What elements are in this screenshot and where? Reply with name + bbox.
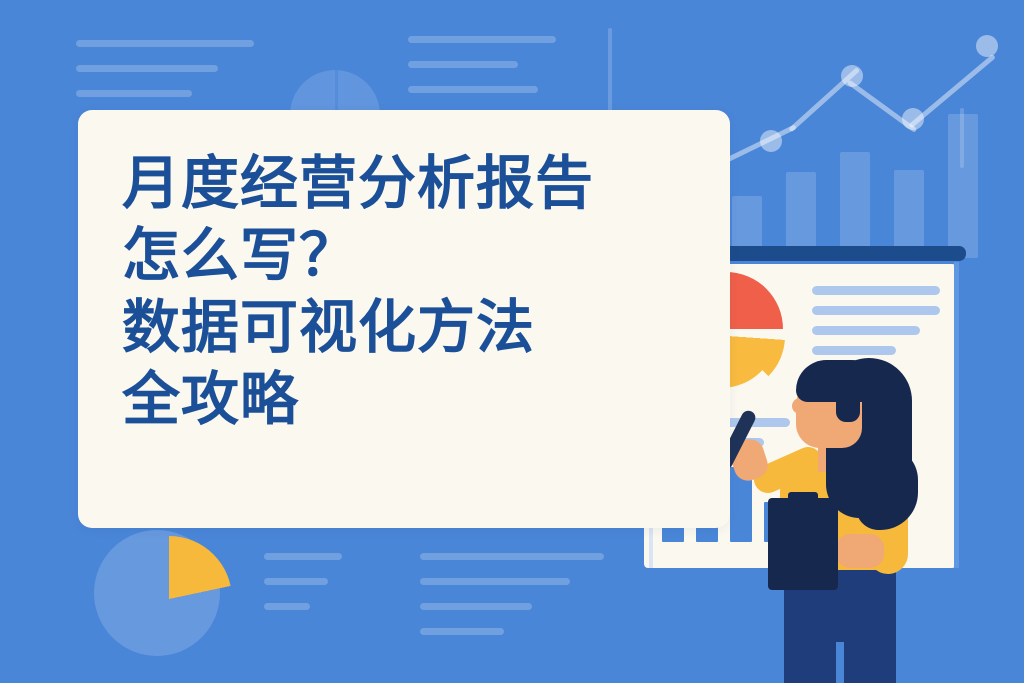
bg-line: [76, 40, 254, 47]
bg-line: [408, 86, 538, 93]
whiteboard-text-line: [812, 326, 920, 335]
bg-line: [76, 65, 218, 72]
title-card: 月度经营分析报告 怎么写？ 数据可视化方法 全攻略: [78, 110, 730, 528]
title-line-1: 月度经营分析报告: [122, 148, 594, 220]
bg-line: [264, 603, 310, 610]
bg-line: [264, 553, 342, 560]
bg-line: [76, 90, 192, 97]
bg-line-marker: [902, 108, 924, 130]
bg-line-segment: [721, 124, 797, 164]
bg-line: [264, 578, 328, 585]
presenter-figure: [700, 352, 990, 683]
bg-line-marker: [976, 35, 998, 57]
presenter-leg-gap: [836, 642, 844, 683]
bg-line-marker: [760, 130, 782, 152]
whiteboard-text-line: [812, 286, 940, 295]
bg-line: [408, 61, 518, 68]
bg-vertical-line: [608, 28, 612, 116]
bg-pie-chart-bottom-left: [94, 530, 220, 656]
title-line-2: 怎么写？: [122, 220, 594, 292]
clipboard: [768, 498, 838, 590]
clipboard-clip: [788, 492, 818, 504]
title-line-4: 全攻略: [122, 364, 594, 436]
whiteboard-text-line: [812, 306, 940, 315]
bg-bar: [840, 152, 870, 258]
bg-line: [420, 553, 604, 560]
presenter-hand-holding: [836, 534, 884, 568]
title-line-3: 数据可视化方法: [122, 292, 594, 364]
bg-pie-divider: [335, 70, 338, 115]
bg-bar: [894, 170, 924, 258]
page-title: 月度经营分析报告 怎么写？ 数据可视化方法 全攻略: [122, 148, 594, 436]
presenter-hair-flow: [856, 446, 918, 530]
bg-line: [408, 36, 556, 43]
bg-bar: [948, 114, 978, 258]
bg-line: [420, 603, 532, 610]
poster-canvas: 月度经营分析报告 怎么写？ 数据可视化方法 全攻略: [0, 0, 1024, 683]
bg-line-marker: [841, 65, 863, 87]
bg-pie-highlight-slice: [106, 536, 232, 662]
bg-line: [420, 628, 504, 635]
presenter-hair-sideburn: [836, 382, 860, 422]
bg-line: [420, 578, 570, 585]
